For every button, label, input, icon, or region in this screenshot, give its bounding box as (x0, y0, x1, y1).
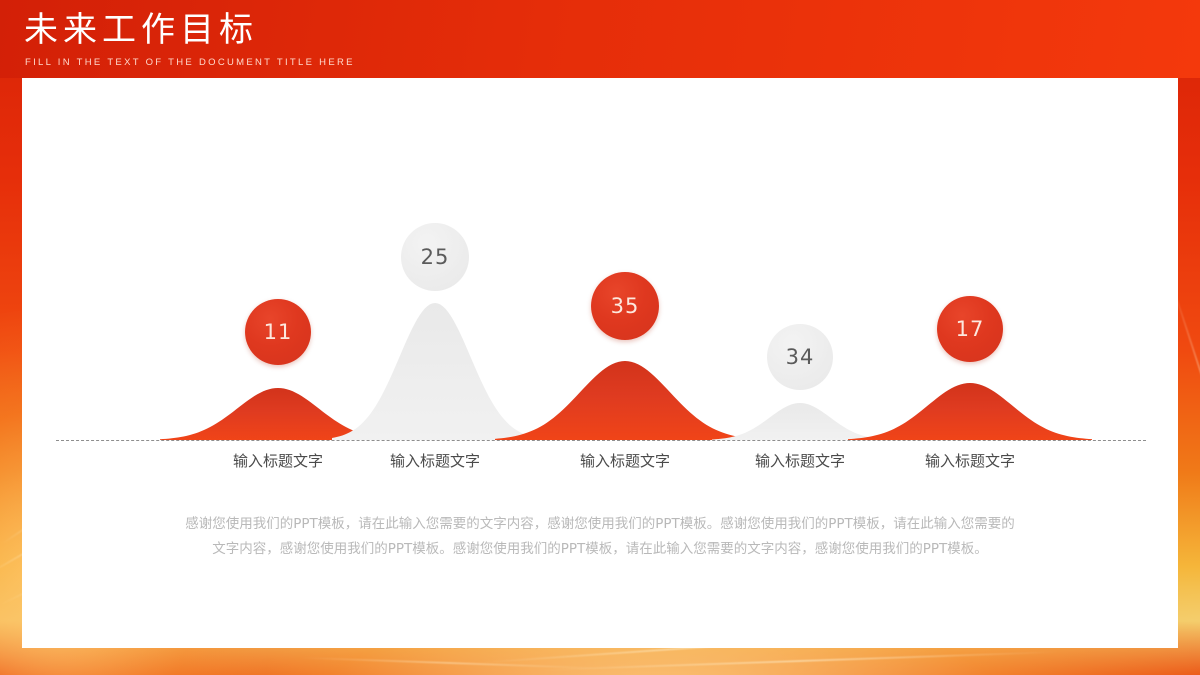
category-label-group: 输入标题文字输入标题文字输入标题文字输入标题文字输入标题文字 (22, 450, 1178, 480)
paragraph-line: 感谢您使用我们的PPT模板，请在此输入您需要的文字内容，感谢您使用我们的PPT模… (120, 512, 1080, 537)
slide: 未来工作目标 FILL IN THE TEXT OF THE DOCUMENT … (0, 0, 1200, 675)
page-subtitle: FILL IN THE TEXT OF THE DOCUMENT TITLE H… (25, 57, 355, 68)
category-label-2[interactable]: 输入标题文字 (580, 450, 670, 471)
content-card: 1125353417 输入标题文字输入标题文字输入标题文字输入标题文字输入标题文… (22, 78, 1178, 648)
value-bubble-label: 25 (421, 245, 450, 269)
category-label-3[interactable]: 输入标题文字 (755, 450, 845, 471)
bell-curve-4[interactable] (848, 383, 1092, 440)
category-label-0[interactable]: 输入标题文字 (233, 450, 323, 471)
value-bubble-4[interactable]: 17 (937, 296, 1003, 362)
value-bubble-3[interactable]: 34 (767, 324, 833, 390)
bell-curve-chart (22, 78, 1178, 458)
value-bubble-1[interactable]: 25 (401, 223, 469, 291)
value-bubble-label: 34 (786, 345, 815, 369)
value-bubble-0[interactable]: 11 (245, 299, 311, 365)
bell-curve-1[interactable] (332, 303, 538, 440)
body-paragraph: 感谢您使用我们的PPT模板，请在此输入您需要的文字内容，感谢您使用我们的PPT模… (120, 512, 1080, 562)
chart-svg (22, 78, 1178, 458)
bell-curve-2[interactable] (495, 361, 755, 440)
category-label-4[interactable]: 输入标题文字 (925, 450, 1015, 471)
chart-baseline (56, 440, 1146, 441)
value-bubble-label: 17 (956, 317, 985, 341)
bell-curve-3[interactable] (712, 403, 888, 440)
paragraph-line: 文字内容，感谢您使用我们的PPT模板。感谢您使用我们的PPT模板，请在此输入您需… (120, 537, 1080, 562)
value-bubble-2[interactable]: 35 (591, 272, 659, 340)
value-bubble-label: 11 (264, 320, 293, 344)
page-title: 未来工作目标 (24, 9, 258, 51)
category-label-1[interactable]: 输入标题文字 (390, 450, 480, 471)
header-band: 未来工作目标 FILL IN THE TEXT OF THE DOCUMENT … (0, 0, 1200, 78)
value-bubble-label: 35 (611, 294, 640, 318)
